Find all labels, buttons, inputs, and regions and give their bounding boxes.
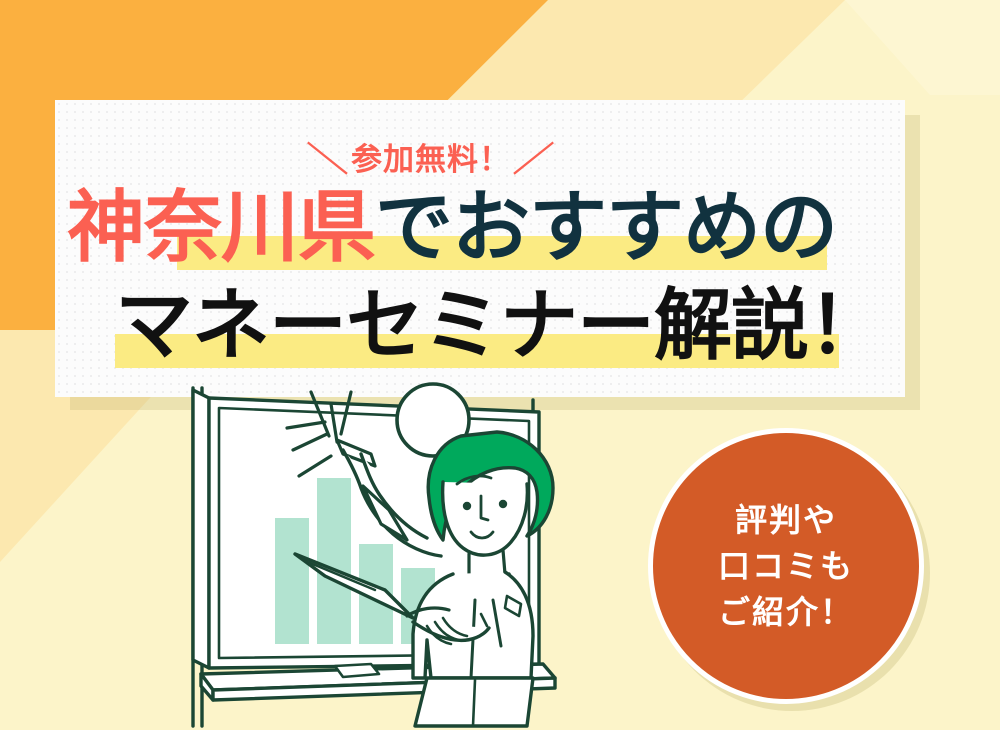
ribbon-slash-right-icon: ／ [511, 132, 558, 181]
headline-line-1-rest: でおすすめの [375, 183, 837, 271]
presenter-illustration [175, 378, 605, 730]
headline-line-2-text: マネーセミナー解説！ [115, 281, 885, 369]
badge-line-3: ご紹介！ [718, 596, 854, 628]
eye-right [499, 500, 507, 508]
review-circle-badge: 評判や 口コミも ご紹介！ [648, 428, 924, 704]
eye-left [463, 502, 471, 510]
ribbon-slash-left-icon: ＼ [304, 132, 351, 181]
poster-canvas: 神奈川県でおすすめの マネーセミナー解説！ ＼ 参加無料！ ／ [0, 0, 1000, 730]
badge-line-2: 口コミも [718, 550, 854, 582]
bar-2 [317, 478, 351, 644]
ribbon-text: 参加無料！ [351, 134, 511, 179]
bar-1 [275, 518, 309, 644]
badge-line-1: 評判や [735, 504, 837, 536]
headline-line-2: マネーセミナー解説！ [115, 286, 905, 364]
band-top-right-light [845, 0, 1000, 95]
free-entry-ribbon: ＼ 参加無料！ ／ [310, 132, 552, 181]
eraser [335, 664, 379, 677]
board-side-edge [193, 390, 209, 668]
headline-prefecture: 神奈川県 [67, 183, 375, 271]
headline-line-1: 神奈川県でおすすめの [67, 188, 905, 266]
